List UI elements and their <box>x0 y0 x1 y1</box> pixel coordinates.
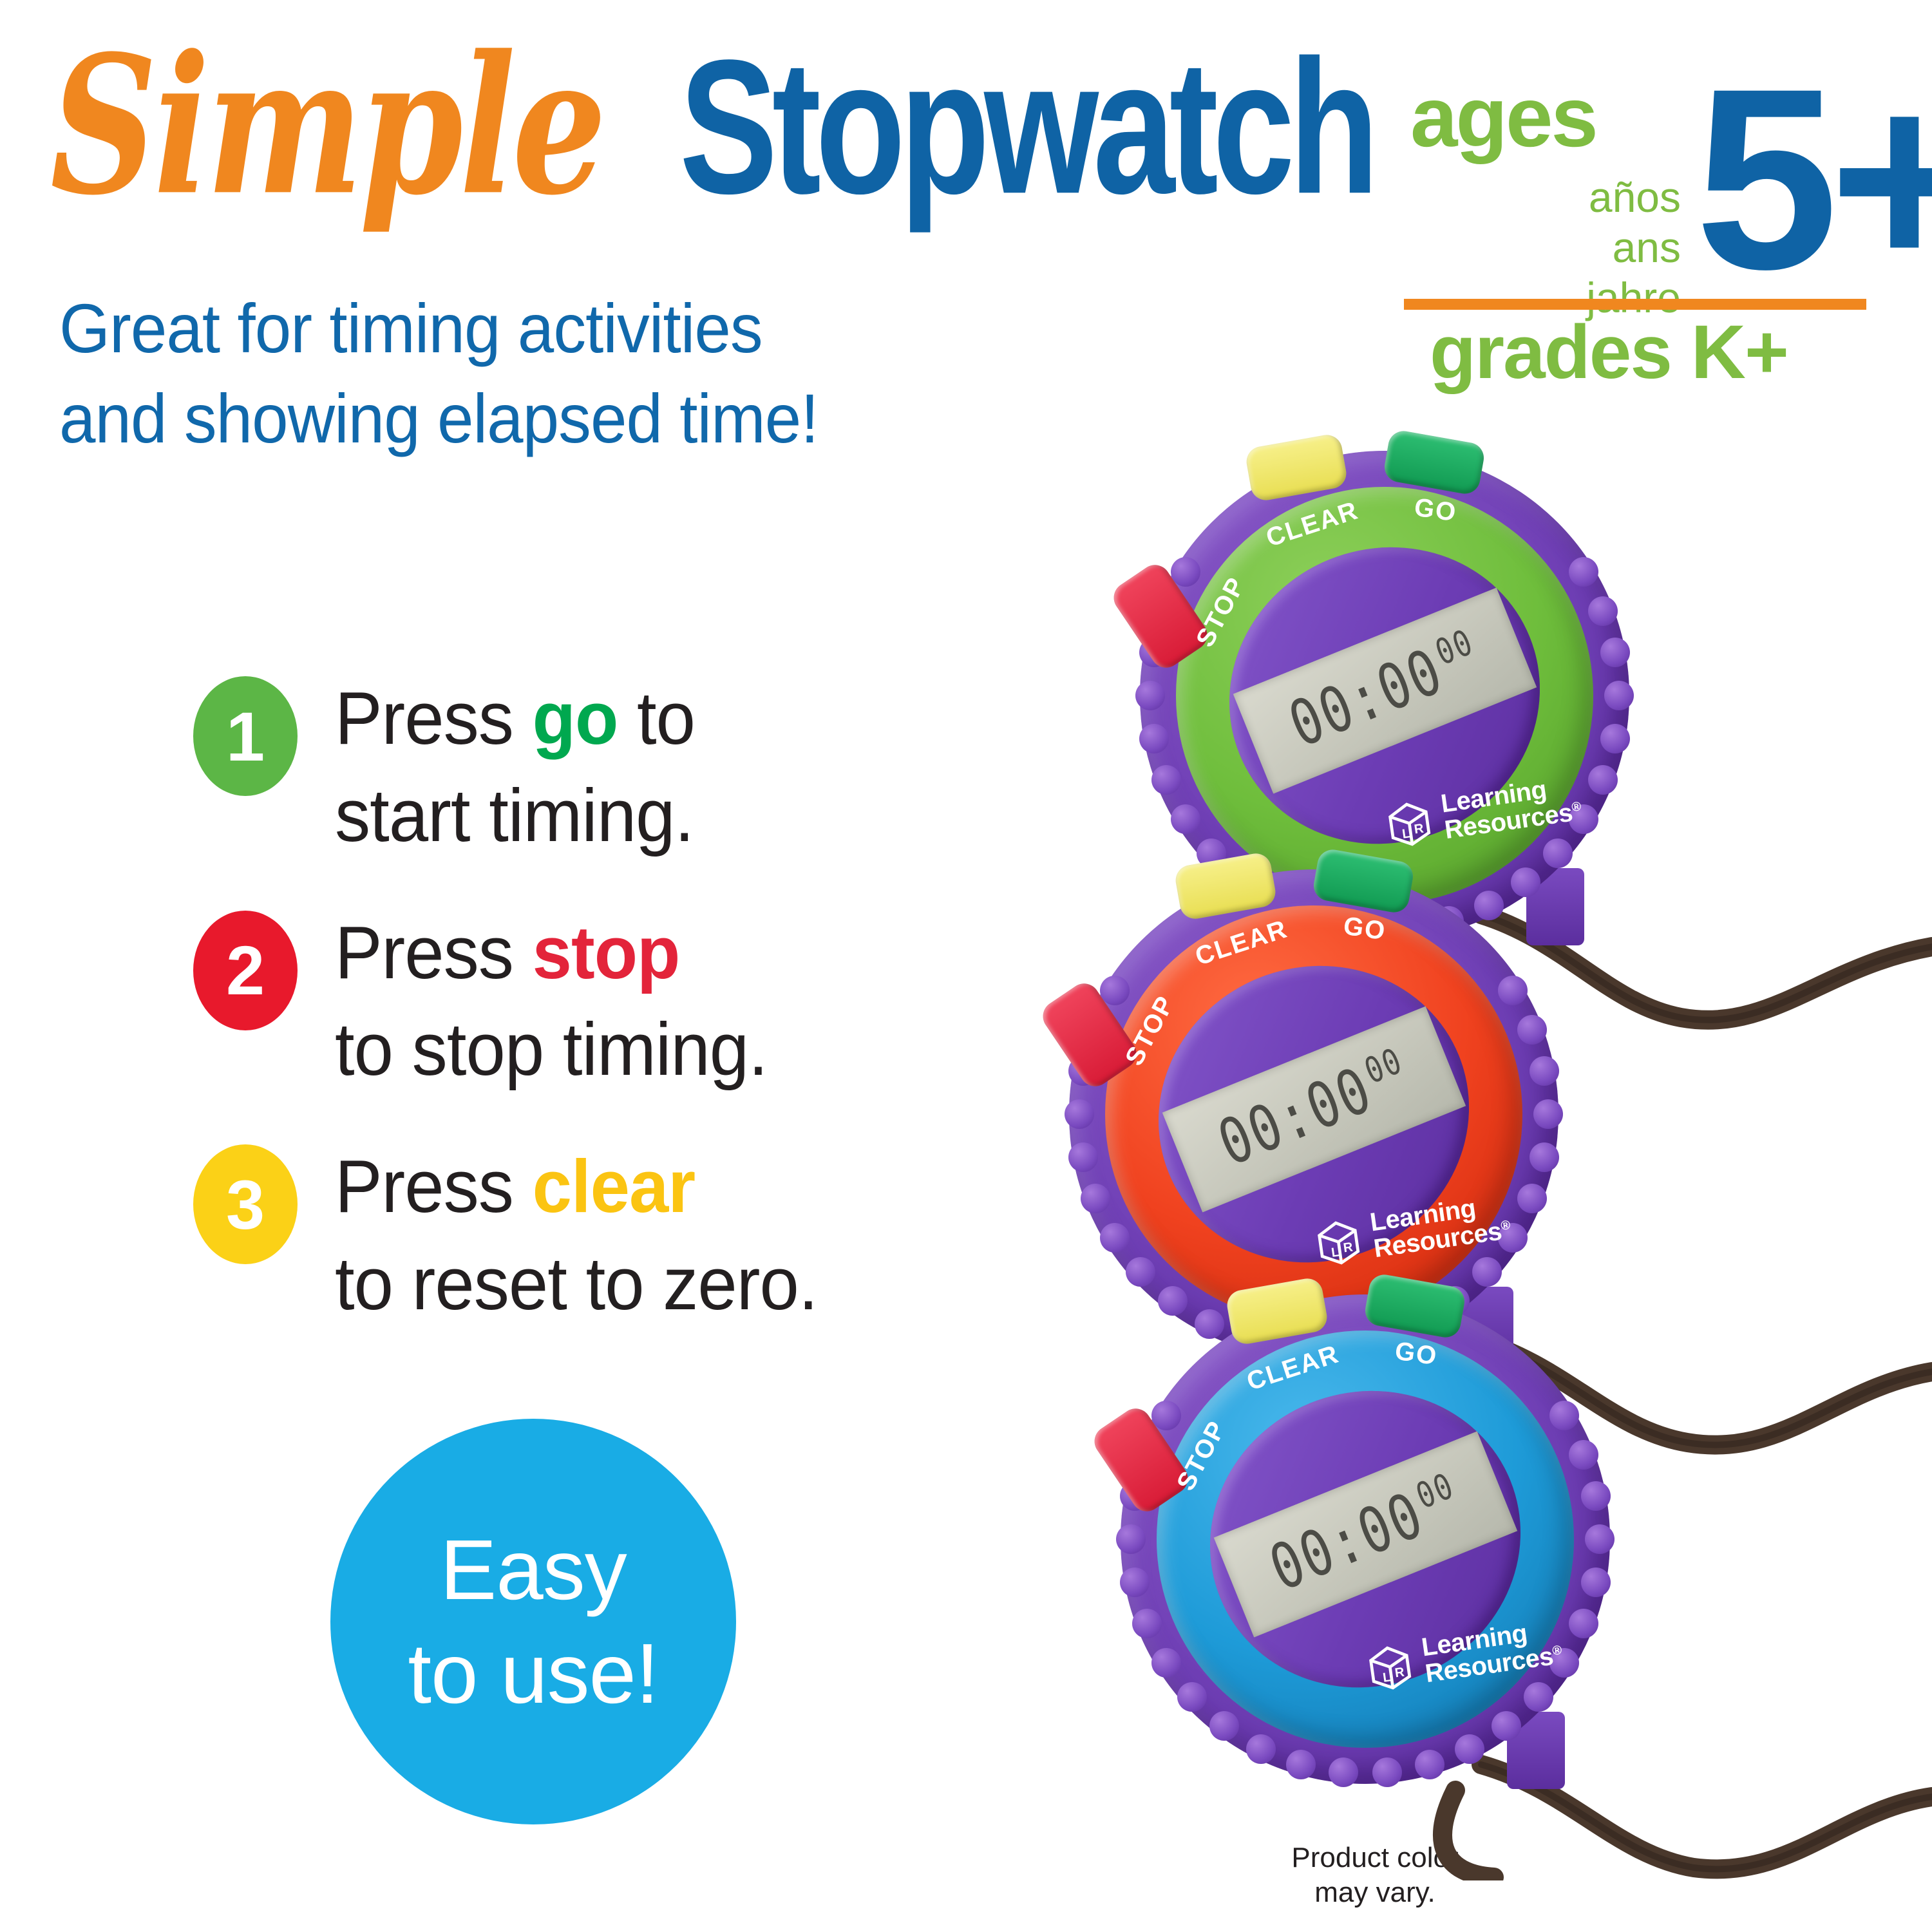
blue-stopwatch-go-label: GO <box>1393 1337 1439 1372</box>
step-1-line2: start timing. <box>335 767 695 864</box>
step-1-number-badge: 1 <box>193 676 298 796</box>
step-3-text: Press clear to reset to zero. <box>335 1138 818 1332</box>
product-marketing-page: Simple Stopwatch Great for timing activi… <box>0 0 1932 1932</box>
step-3-line1-pre: Press <box>335 1144 533 1228</box>
red-stopwatch-display-hundredths: 00 <box>1360 1043 1407 1090</box>
subtitle: Great for timing activities and showing … <box>59 283 819 464</box>
ages-label-spanish: años <box>1544 173 1681 223</box>
step-1-line1-pre: Press <box>335 676 533 760</box>
step-2-line1-pre: Press <box>335 911 533 994</box>
step-3-number-badge: 3 <box>193 1144 298 1264</box>
blue-stopwatch[interactable]: STOP CLEAR GO 00:00 00 L R <box>1121 1294 1610 1784</box>
blue-stopwatch-display-hundredths: 00 <box>1412 1468 1459 1515</box>
green-stopwatch-go-label: GO <box>1412 493 1459 528</box>
svg-text:R: R <box>1343 1240 1354 1255</box>
easy-badge-line-1: Easy <box>440 1518 626 1622</box>
step-3: 3 Press clear to reset to zero. <box>193 1138 979 1332</box>
step-1-keyword-go: go <box>533 676 618 760</box>
step-2-number-badge: 2 <box>193 911 298 1030</box>
easy-badge-line-2: to use! <box>408 1622 658 1725</box>
step-3-keyword-clear: clear <box>533 1144 696 1228</box>
step-2-text: Press stop to stop timing. <box>335 904 768 1099</box>
step-1-line1-post: to <box>618 676 695 760</box>
instruction-steps: 1 Press go to start timing. 2 Press stop… <box>193 670 979 1372</box>
step-1: 1 Press go to start timing. <box>193 670 979 864</box>
age-value: 5+ <box>1695 50 1932 308</box>
ages-label-french: ans <box>1544 223 1681 273</box>
step-1-text: Press go to start timing. <box>335 670 695 864</box>
step-2-line2: to stop timing. <box>335 1001 768 1098</box>
grades-label: grades K+ <box>1430 314 1788 390</box>
age-grade-badge: ages años ans jahre 5+ grades K+ <box>1404 62 1893 300</box>
subtitle-line-1: Great for timing activities <box>59 283 819 374</box>
green-stopwatch-display-hundredths: 00 <box>1431 625 1478 671</box>
learning-resources-cube-icon: L R <box>1381 794 1437 851</box>
step-2: 2 Press stop to stop timing. <box>193 904 979 1099</box>
title-word-stopwatch: Stopwatch <box>679 32 1374 223</box>
product-photo-group: STOP CLEAR GO 00:00 00 L R <box>1030 451 1932 1880</box>
age-badge-top: ages años ans jahre 5+ <box>1404 62 1893 300</box>
subtitle-line-2: and showing elapsed time! <box>59 374 819 464</box>
badge-divider <box>1404 299 1866 310</box>
brand-registered-mark: ® <box>1571 799 1582 815</box>
step-3-line2: to reset to zero. <box>335 1235 818 1332</box>
learning-resources-cube-icon: L R <box>1310 1213 1367 1269</box>
brand-registered-mark: ® <box>1500 1218 1511 1233</box>
svg-text:R: R <box>1394 1665 1406 1680</box>
red-stopwatch-go-label: GO <box>1341 912 1388 947</box>
easy-to-use-badge: Easy to use! <box>330 1419 736 1824</box>
svg-text:R: R <box>1414 821 1425 837</box>
learning-resources-cube-icon: L R <box>1361 1638 1418 1694</box>
title-word-simple: Simple <box>50 30 603 220</box>
step-2-keyword-stop: stop <box>533 911 680 994</box>
page-title: Simple Stopwatch <box>50 55 1468 223</box>
brand-registered-mark: ® <box>1551 1643 1562 1658</box>
ages-label: ages <box>1410 75 1596 160</box>
